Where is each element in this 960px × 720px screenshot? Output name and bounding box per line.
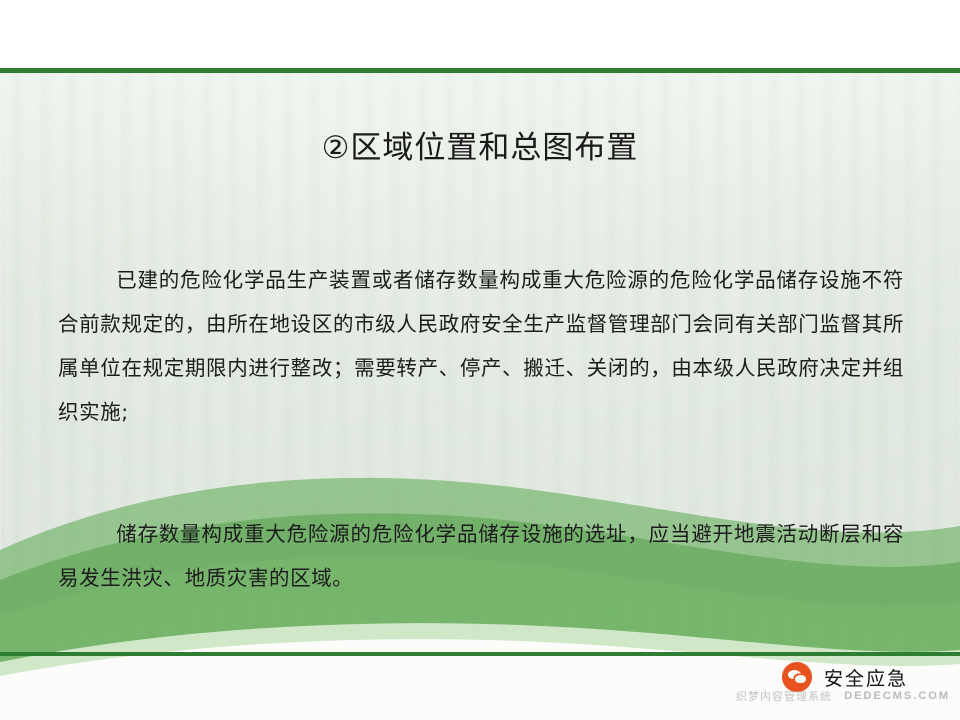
watermark-sub: 织梦内容管理系统 bbox=[736, 688, 832, 704]
watermark-main: DEDECMS.COM bbox=[844, 690, 950, 702]
top-divider-rule bbox=[0, 68, 960, 73]
body-paragraph-2: 储存数量构成重大危险源的危险化学品储存设施的选址，应当避开地震活动断层和容易发生… bbox=[58, 512, 904, 600]
body-paragraph-1-text: 已建的危险化学品生产装置或者储存数量构成重大危险源的危险化学品储存设施不符合前款… bbox=[58, 268, 904, 424]
body-paragraph-1: 已建的危险化学品生产装置或者储存数量构成重大危险源的危险化学品储存设施不符合前款… bbox=[58, 258, 904, 434]
page-title: ②区域位置和总图布置 bbox=[0, 126, 960, 170]
slide-canvas: ②区域位置和总图布置 已建的危险化学品生产装置或者储存数量构成重大危险源的危险化… bbox=[0, 0, 960, 720]
footer-wechat-label: 安全应急 bbox=[824, 664, 908, 691]
bottom-divider-rule bbox=[0, 652, 960, 656]
body-paragraph-2-text: 储存数量构成重大危险源的危险化学品储存设施的选址，应当避开地震活动断层和容易发生… bbox=[58, 522, 904, 590]
